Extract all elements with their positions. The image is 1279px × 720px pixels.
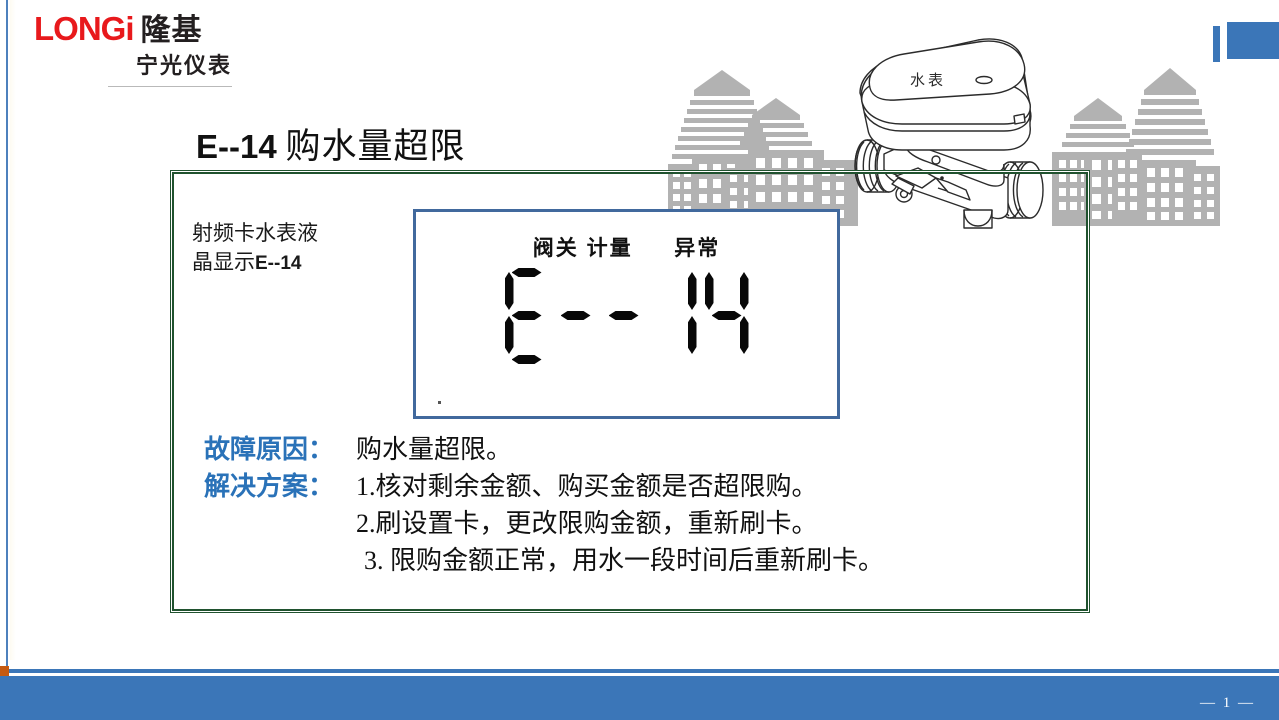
lcd-panel: 阀关 计量 异常 bbox=[413, 209, 840, 419]
page-number: — 1 — bbox=[1200, 695, 1255, 712]
seven-seg-digit-e bbox=[503, 268, 551, 364]
solution-item-2: 2.刷设置卡，更改限购金额，重新刷卡。 bbox=[356, 506, 884, 543]
solution-item-3: 3. 限购金额正常，用水一段时间后重新刷卡。 bbox=[364, 543, 884, 580]
building-block-right-e bbox=[1188, 166, 1220, 226]
solution-label: 解决方案： bbox=[204, 469, 356, 506]
left-accent-rule bbox=[6, 0, 8, 684]
page-title-code: E--14 bbox=[196, 128, 277, 165]
footer-divider bbox=[8, 669, 1279, 676]
logo-subtitle-text: 宁光仪表 bbox=[34, 48, 234, 80]
left-gradient-strip bbox=[10, 0, 16, 660]
lcd-status-row: 阀关 计量 异常 bbox=[416, 232, 837, 262]
lcd-caption-line1: 射频卡水表液 bbox=[192, 221, 318, 245]
footer-band: — 1 — bbox=[0, 676, 1279, 720]
footer-orange-tick bbox=[0, 666, 9, 676]
lcd-status-abnormal: 异常 bbox=[674, 237, 720, 260]
cause-text: 购水量超限。 bbox=[356, 432, 512, 469]
seven-seg-digit-4 bbox=[703, 268, 751, 364]
lcd-caption-line2: 晶显示 bbox=[192, 250, 255, 274]
lcd-seven-segment-readout bbox=[416, 268, 837, 364]
company-logo: LONGi 隆基 宁光仪表 bbox=[34, 12, 234, 87]
building-block-right-d bbox=[1140, 160, 1196, 226]
lcd-corner-dot bbox=[438, 401, 441, 404]
logo-latin-text: LONGi bbox=[34, 12, 134, 45]
building-tower-right-tall bbox=[1126, 68, 1214, 155]
building-tower-right-a bbox=[1062, 98, 1134, 147]
lcd-caption: 射频卡水表液 晶显示E--14 bbox=[192, 219, 382, 277]
solution-row: 解决方案： 1.核对剩余金额、购买金额是否超限购。 bbox=[204, 469, 884, 506]
meter-top-cover bbox=[869, 41, 1024, 100]
building-block-right-c bbox=[1112, 152, 1142, 226]
logo-chinese-text: 隆基 bbox=[141, 16, 203, 46]
lcd-status-valve-meter: 阀关 计量 bbox=[533, 237, 633, 260]
decoration-thin-bar bbox=[1213, 26, 1220, 62]
lcd-caption-code: E--14 bbox=[255, 253, 301, 274]
slide-canvas: LONGi 隆基 宁光仪表 E--14 购水量超限 bbox=[0, 0, 1279, 720]
logo-primary-row: LONGi 隆基 bbox=[34, 12, 234, 46]
page-title: E--14 购水量超限 bbox=[196, 118, 465, 169]
cause-label: 故障原因： bbox=[204, 432, 356, 469]
decoration-blue-rectangle bbox=[1227, 22, 1279, 59]
meter-label: 水表 bbox=[910, 72, 946, 89]
seven-seg-dash-2 bbox=[603, 268, 647, 364]
seven-seg-digit-1 bbox=[651, 268, 699, 364]
troubleshooting-block: 故障原因： 购水量超限。 解决方案： 1.核对剩余金额、购买金额是否超限购。 2… bbox=[204, 432, 884, 580]
page-title-text: 购水量超限 bbox=[285, 127, 465, 166]
cause-row: 故障原因： 购水量超限。 bbox=[204, 432, 884, 469]
logo-underline bbox=[108, 86, 232, 87]
seven-seg-dash-1 bbox=[555, 268, 599, 364]
solution-item-1: 1.核对剩余金额、购买金额是否超限购。 bbox=[356, 469, 818, 506]
